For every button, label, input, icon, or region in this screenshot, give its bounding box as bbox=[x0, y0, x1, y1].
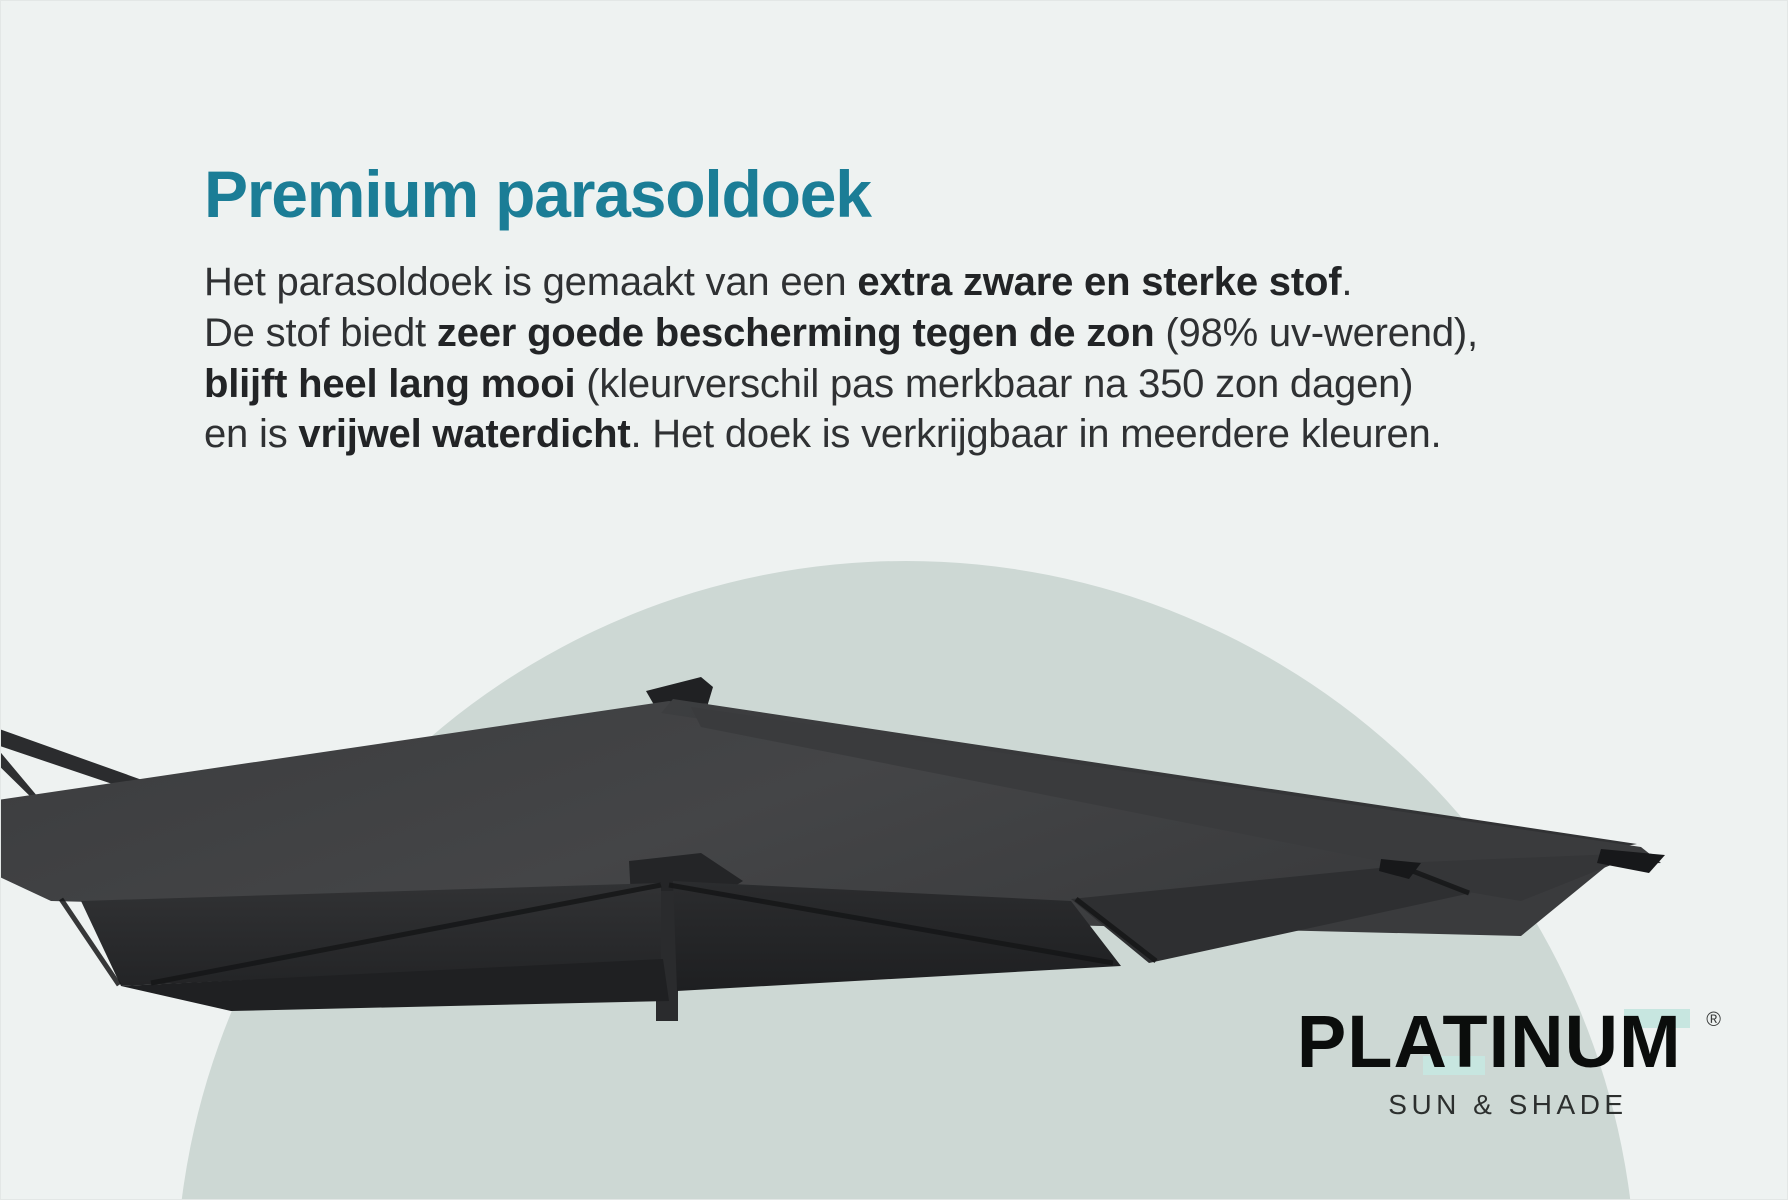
body-text: De stof biedt bbox=[204, 311, 437, 355]
paragraph-line-4: en is vrijwel waterdicht. Het doek is ve… bbox=[204, 409, 1584, 460]
logo-wordmark-container: PLATINUM ® bbox=[1297, 1007, 1719, 1077]
emphasis-text: blijft heel lang mooi bbox=[204, 362, 575, 406]
copy-block: Premium parasoldoek Het parasoldoek is g… bbox=[204, 161, 1584, 460]
body-text: . Het doek is verkrijgbaar in meerdere k… bbox=[630, 412, 1441, 456]
body-text: . bbox=[1341, 260, 1352, 304]
body-text: (kleurverschil pas merkbaar na 350 zon d… bbox=[575, 362, 1413, 406]
body-text: (98% uv-werend), bbox=[1155, 311, 1478, 355]
emphasis-text: extra zware en sterke stof bbox=[857, 260, 1341, 304]
logo-wordmark: PLATINUM bbox=[1297, 1000, 1682, 1083]
registered-trademark-icon: ® bbox=[1706, 1009, 1722, 1031]
promo-banner: Premium parasoldoek Het parasoldoek is g… bbox=[0, 0, 1788, 1200]
body-text: en is bbox=[204, 412, 298, 456]
body-text: Het parasoldoek is gemaakt van een bbox=[204, 260, 857, 304]
paragraph-line-1: Het parasoldoek is gemaakt van een extra… bbox=[204, 257, 1584, 308]
description-paragraph: Het parasoldoek is gemaakt van een extra… bbox=[204, 257, 1584, 460]
emphasis-text: vrijwel waterdicht bbox=[298, 412, 630, 456]
paragraph-line-3: blijft heel lang mooi (kleurverschil pas… bbox=[204, 359, 1584, 410]
emphasis-text: zeer goede bescherming tegen de zon bbox=[437, 311, 1155, 355]
brand-logo: PLATINUM ® SUN & SHADE bbox=[1297, 1007, 1719, 1121]
logo-tagline: SUN & SHADE bbox=[1297, 1089, 1719, 1121]
paragraph-line-2: De stof biedt zeer goede bescherming teg… bbox=[204, 308, 1584, 359]
page-title: Premium parasoldoek bbox=[204, 161, 1584, 227]
